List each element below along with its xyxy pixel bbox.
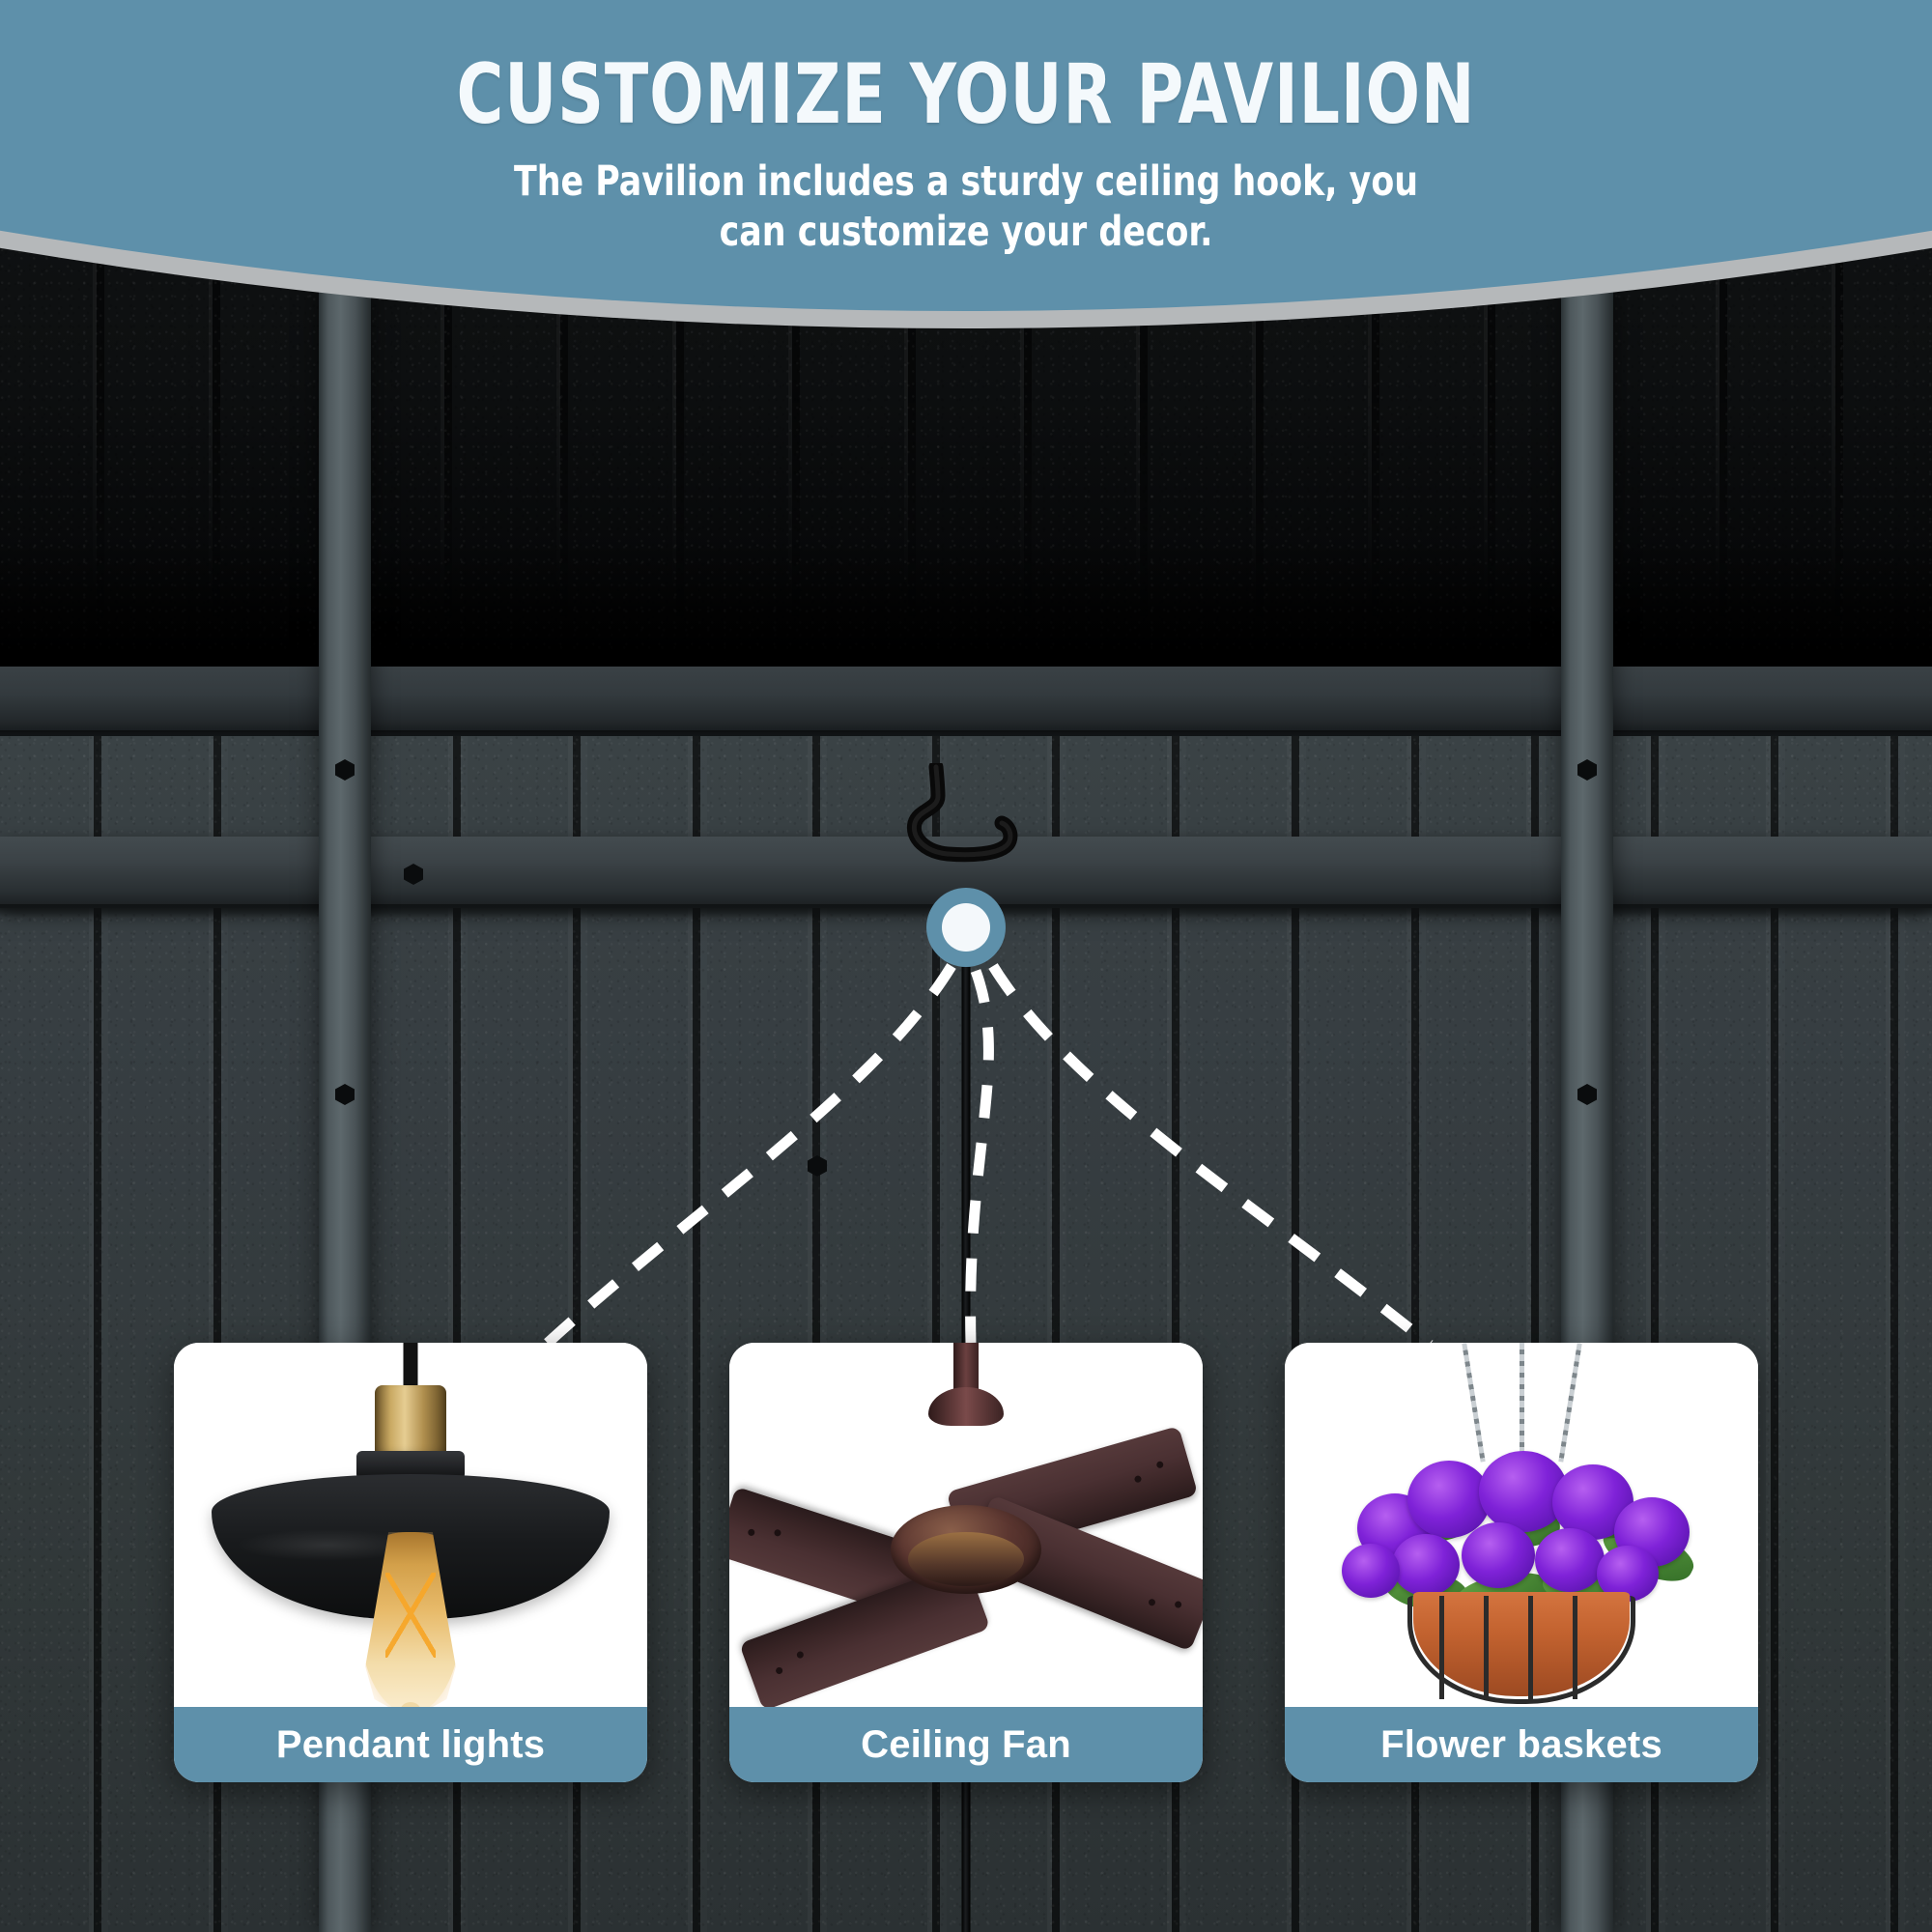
product-card-label-pendant-lights: Pendant lights xyxy=(174,1707,647,1782)
upper-beam xyxy=(0,667,1932,736)
product-card-flower-baskets[interactable]: Flower baskets xyxy=(1285,1343,1758,1782)
product-card-label-flower-baskets: Flower baskets xyxy=(1285,1707,1758,1782)
pendant-light-image xyxy=(174,1343,647,1707)
bulb-filament-icon xyxy=(385,1573,436,1658)
product-card-label-ceiling-fan: Ceiling Fan xyxy=(729,1707,1203,1782)
product-card-pendant-lights[interactable]: Pendant lights xyxy=(174,1343,647,1782)
ceiling-fan-image xyxy=(729,1343,1203,1707)
flower-basket-image xyxy=(1285,1343,1758,1707)
ceiling-hook-icon xyxy=(894,763,1038,889)
connector-hub-core xyxy=(942,903,990,952)
header-banner: CUSTOMIZE YOUR PAVILION The Pavilion inc… xyxy=(0,0,1932,386)
fan-canopy-icon xyxy=(928,1387,1004,1426)
page-title: CUSTOMIZE YOUR PAVILION xyxy=(135,46,1797,143)
banner-subtitle-line-2: can customize your decor. xyxy=(97,207,1835,257)
pavilion-infographic: Pendant lights Ceiling Fan xyxy=(0,0,1932,1932)
pendant-socket-icon xyxy=(375,1385,446,1461)
banner-subtitle: The Pavilion includes a sturdy ceiling h… xyxy=(97,156,1835,258)
basket-cage-icon xyxy=(1407,1596,1635,1704)
fan-motor-trim-icon xyxy=(908,1532,1024,1586)
product-card-ceiling-fan[interactable]: Ceiling Fan xyxy=(729,1343,1203,1782)
banner-text-block: CUSTOMIZE YOUR PAVILION The Pavilion inc… xyxy=(0,0,1932,258)
basket-chain-icon xyxy=(1463,1343,1579,1466)
pendant-cord-icon xyxy=(404,1343,418,1389)
banner-subtitle-line-1: The Pavilion includes a sturdy ceiling h… xyxy=(97,156,1835,207)
connector-hub xyxy=(926,888,1006,967)
